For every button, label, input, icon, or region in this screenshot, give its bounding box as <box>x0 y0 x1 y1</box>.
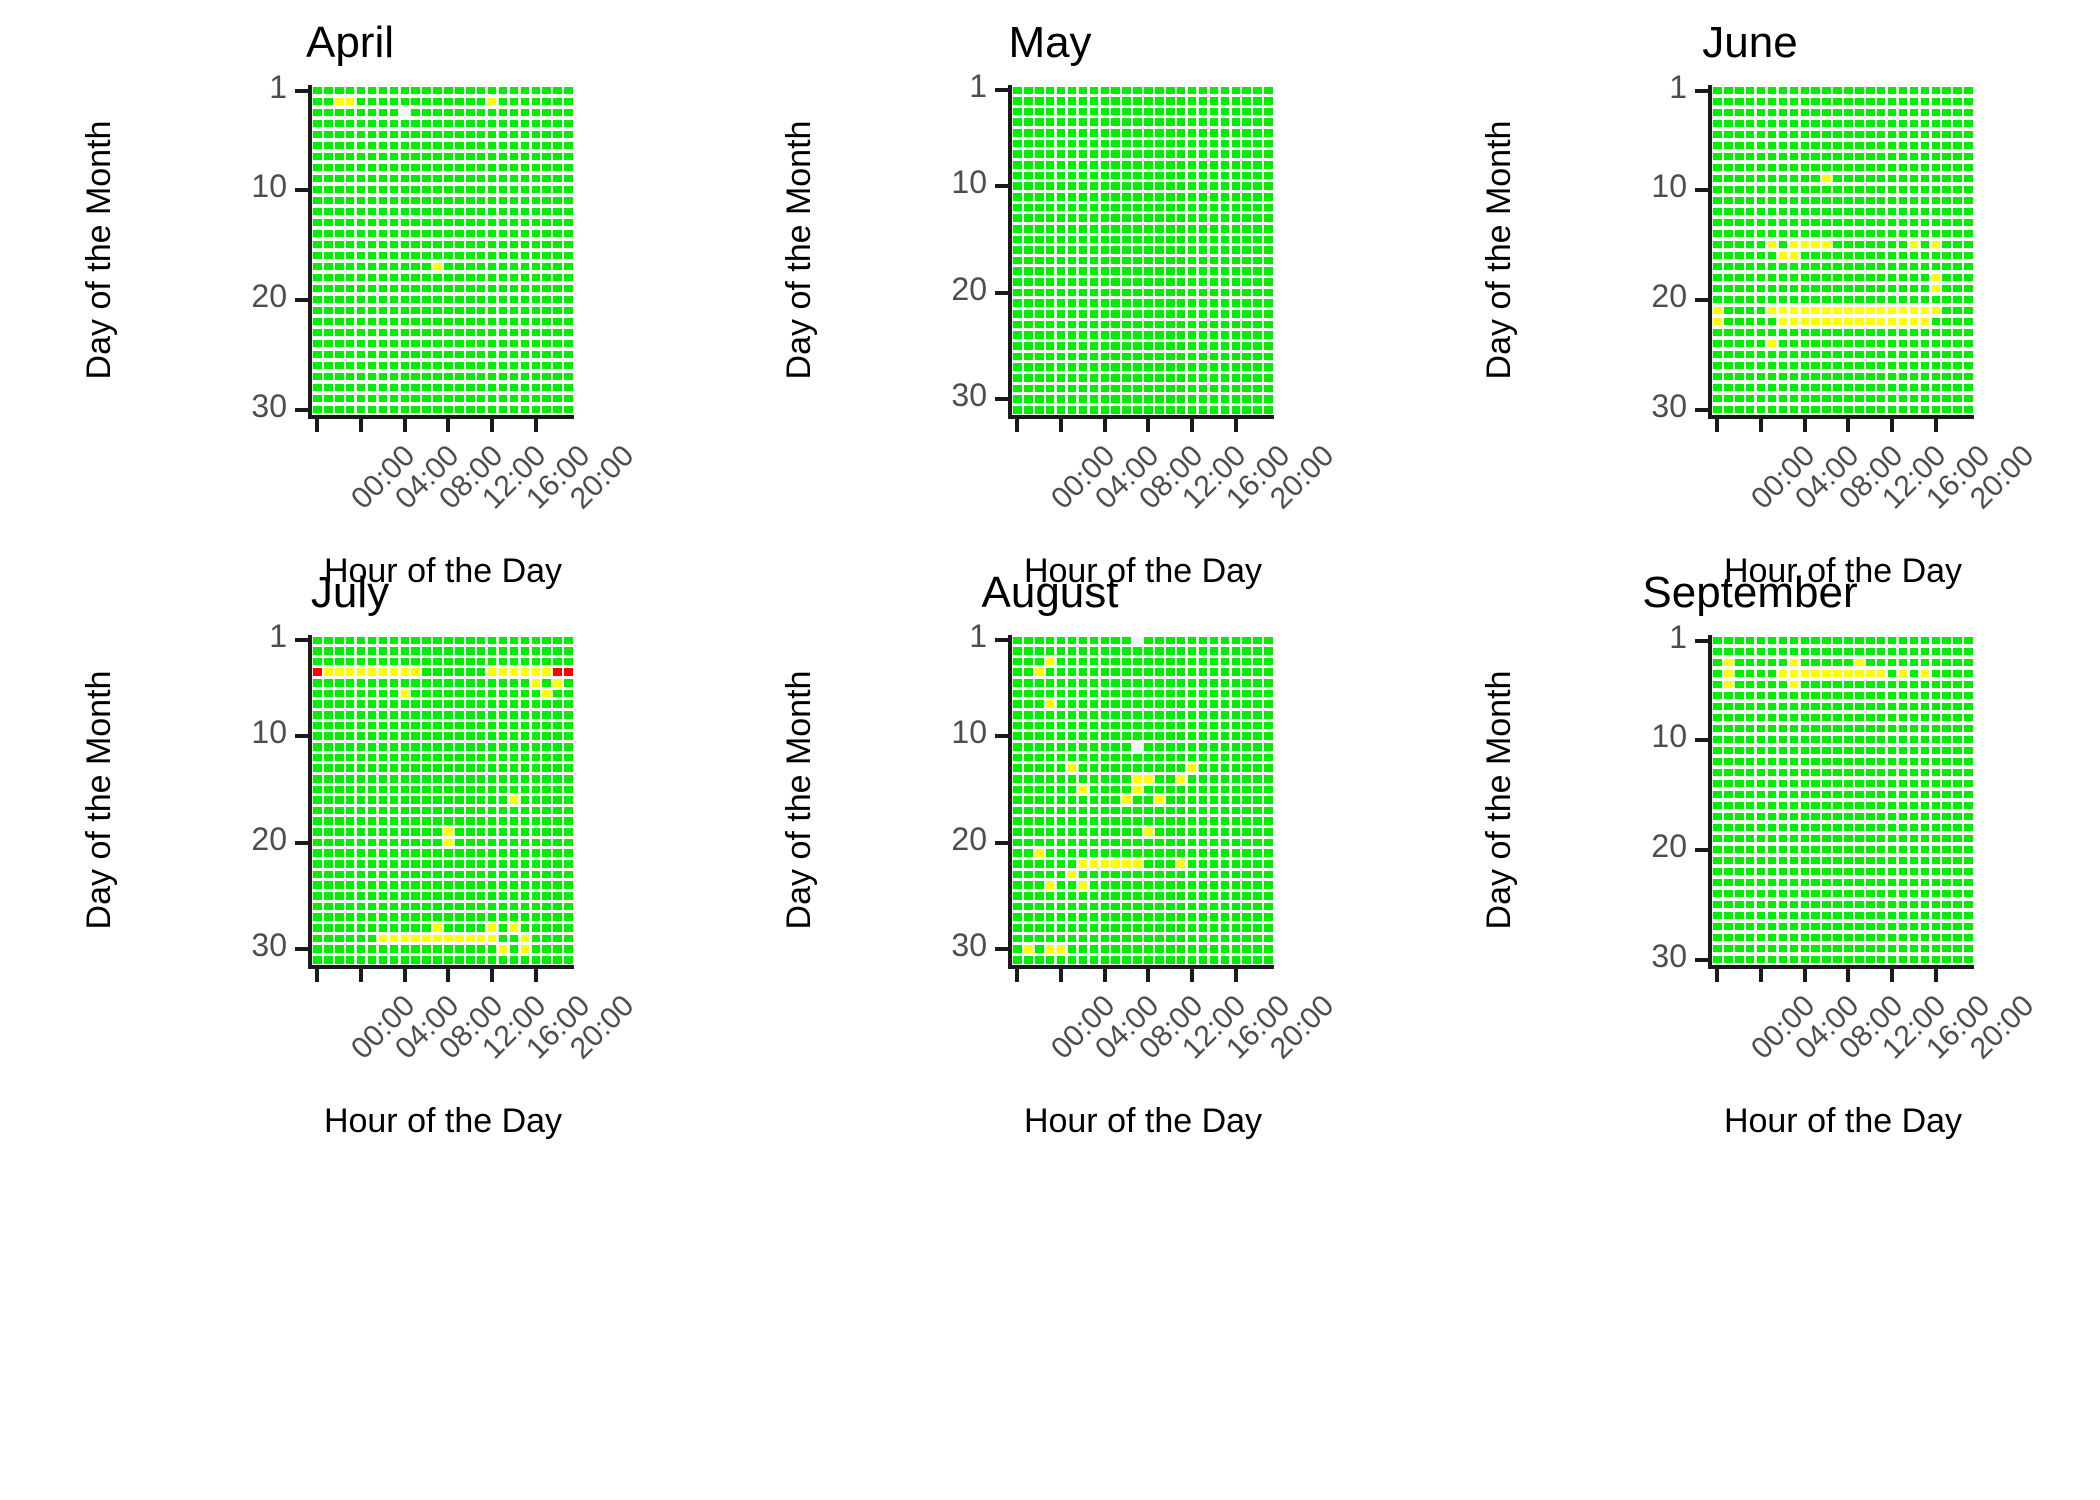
heatmap-cell <box>1876 239 1887 250</box>
heatmap-cell <box>1778 338 1789 349</box>
heatmap-cell <box>454 305 465 316</box>
heatmap-cell <box>1088 720 1099 731</box>
heatmap-cell <box>552 773 563 784</box>
heatmap-cell <box>1099 901 1110 912</box>
heatmap-cell <box>1165 667 1176 678</box>
heatmap-cell <box>530 393 541 404</box>
heatmap-cell <box>1930 844 1941 855</box>
heatmap-cell <box>1767 162 1778 173</box>
heatmap-cell <box>530 316 541 327</box>
heatmap-cell <box>1876 250 1887 261</box>
heatmap-cell <box>432 327 443 338</box>
heatmap-cell <box>334 316 345 327</box>
heatmap-cell <box>1854 294 1865 305</box>
heatmap-cell <box>1056 383 1067 394</box>
y-tick-label: 10 <box>1587 168 1687 205</box>
heatmap-cell <box>312 360 323 371</box>
heatmap-cell <box>1952 811 1963 822</box>
heatmap-cell <box>1854 701 1865 712</box>
heatmap-cell <box>1067 859 1078 870</box>
heatmap-cell <box>1898 690 1909 701</box>
heatmap-cell <box>443 699 454 710</box>
heatmap-cell <box>1712 184 1723 195</box>
heatmap-cell <box>1012 287 1023 298</box>
heatmap-cell <box>410 667 421 678</box>
heatmap-cell <box>399 371 410 382</box>
heatmap-cell <box>323 151 334 162</box>
heatmap-cell <box>1832 679 1843 690</box>
heatmap-cell <box>1843 305 1854 316</box>
heatmap-cell <box>1887 690 1898 701</box>
heatmap-cell <box>399 635 410 646</box>
heatmap-cell <box>1810 129 1821 140</box>
heatmap-cell <box>1110 699 1121 710</box>
heatmap-cell <box>509 922 520 933</box>
heatmap-cell <box>1941 272 1952 283</box>
heatmap-cell <box>1909 173 1920 184</box>
heatmap-cell <box>1132 383 1143 394</box>
heatmap-cell <box>1209 266 1220 277</box>
heatmap-cell <box>509 195 520 206</box>
heatmap-cell <box>1865 250 1876 261</box>
heatmap-cell <box>454 327 465 338</box>
heatmap-cell <box>399 107 410 118</box>
heatmap-cell <box>1132 319 1143 330</box>
heatmap-cell <box>1723 206 1734 217</box>
heatmap-cell <box>1952 393 1963 404</box>
heatmap-cell <box>1252 678 1263 689</box>
heatmap-cell <box>1088 763 1099 774</box>
heatmap-cell <box>1099 319 1110 330</box>
heatmap-cell <box>1821 767 1832 778</box>
panel-title: June <box>1400 18 2100 68</box>
heatmap-cell <box>1821 316 1832 327</box>
heatmap-cell <box>1788 811 1799 822</box>
heatmap-cell <box>1832 943 1843 954</box>
heatmap-cell <box>432 678 443 689</box>
heatmap-cell <box>552 848 563 859</box>
heatmap-cell <box>1756 140 1767 151</box>
heatmap-cell <box>1252 383 1263 394</box>
heatmap-cell <box>1810 250 1821 261</box>
heatmap-cell <box>1088 266 1099 277</box>
heatmap-cell <box>465 848 476 859</box>
heatmap-cell <box>1734 954 1745 965</box>
heatmap-cell <box>367 880 378 891</box>
heatmap-cell <box>1930 382 1941 393</box>
heatmap-cell <box>1121 394 1132 405</box>
heatmap-cell <box>1219 191 1230 202</box>
heatmap-cell <box>410 371 421 382</box>
heatmap-cell <box>1778 789 1789 800</box>
heatmap-cell <box>1023 213 1034 224</box>
heatmap-cell <box>1219 96 1230 107</box>
heatmap-cell <box>1143 773 1154 784</box>
heatmap-cell <box>1056 245 1067 256</box>
heatmap-cell <box>1209 394 1220 405</box>
heatmap-cell <box>312 305 323 316</box>
heatmap-cell <box>1263 678 1274 689</box>
heatmap-cell <box>541 96 552 107</box>
heatmap-cell <box>1745 272 1756 283</box>
heatmap-cell <box>1756 910 1767 921</box>
heatmap-cell <box>399 795 410 806</box>
heatmap-cell <box>334 162 345 173</box>
heatmap-cell <box>1941 635 1952 646</box>
heatmap-cell <box>1219 128 1230 139</box>
heatmap-cell <box>1876 327 1887 338</box>
heatmap-cell <box>388 667 399 678</box>
heatmap-cell <box>1088 351 1099 362</box>
heatmap-cell <box>1154 837 1165 848</box>
heatmap-cell <box>1778 294 1789 305</box>
heatmap-cell <box>530 933 541 944</box>
heatmap-cell <box>1810 338 1821 349</box>
heatmap-cell <box>1252 635 1263 646</box>
heatmap-cell <box>1088 191 1099 202</box>
heatmap-cell <box>1821 305 1832 316</box>
heatmap-cell <box>1209 795 1220 806</box>
heatmap-cell <box>1012 710 1023 721</box>
heatmap-cell <box>1930 206 1941 217</box>
heatmap-cell <box>378 261 389 272</box>
heatmap-cell <box>1854 118 1865 129</box>
heatmap-cell <box>1832 646 1843 657</box>
heatmap-cell <box>1263 667 1274 678</box>
heatmap-cell <box>421 869 432 880</box>
heatmap-cell <box>454 173 465 184</box>
heatmap-cell <box>530 349 541 360</box>
heatmap-cell <box>454 816 465 827</box>
heatmap-cell <box>1952 217 1963 228</box>
heatmap-cell <box>1241 816 1252 827</box>
heatmap-cell <box>1154 319 1165 330</box>
heatmap-cell <box>356 635 367 646</box>
heatmap-cell <box>454 184 465 195</box>
heatmap-cell <box>487 784 498 795</box>
heatmap-cell <box>541 360 552 371</box>
heatmap-cell <box>1056 784 1067 795</box>
heatmap-cell <box>541 272 552 283</box>
heatmap-cell <box>432 184 443 195</box>
heatmap-cell <box>1788 283 1799 294</box>
heatmap-cell <box>465 327 476 338</box>
heatmap-cell <box>312 678 323 689</box>
heatmap-cell <box>1088 340 1099 351</box>
heatmap-cell <box>1930 393 1941 404</box>
heatmap-cell <box>1876 701 1887 712</box>
heatmap-cell <box>410 228 421 239</box>
heatmap-cell <box>1110 298 1121 309</box>
heatmap-cell <box>1198 848 1209 859</box>
heatmap-cell <box>1045 922 1056 933</box>
heatmap-cell <box>399 228 410 239</box>
heatmap-cell <box>541 731 552 742</box>
heatmap-cell <box>1132 635 1143 646</box>
heatmap-cell <box>1012 720 1023 731</box>
heatmap-cell <box>1952 206 1963 217</box>
heatmap-cell <box>509 933 520 944</box>
heatmap-cell <box>399 184 410 195</box>
heatmap-cell <box>519 349 530 360</box>
heatmap-cell <box>1176 340 1187 351</box>
heatmap-cell <box>1941 646 1952 657</box>
heatmap-cell <box>1045 298 1056 309</box>
heatmap-cell <box>443 922 454 933</box>
heatmap-cell <box>1219 170 1230 181</box>
heatmap-cell <box>334 217 345 228</box>
heatmap-cell <box>1099 763 1110 774</box>
heatmap-cell <box>399 360 410 371</box>
heatmap-cell <box>1034 816 1045 827</box>
heatmap-cell <box>1821 734 1832 745</box>
heatmap-cell <box>399 859 410 870</box>
heatmap-cell <box>1854 745 1865 756</box>
heatmap-cell <box>530 162 541 173</box>
heatmap-cell <box>1734 767 1745 778</box>
heatmap-cell <box>1909 151 1920 162</box>
heatmap-cell <box>1865 877 1876 888</box>
heatmap-cell <box>1067 138 1078 149</box>
heatmap-cell <box>1088 912 1099 923</box>
heatmap-cell <box>432 635 443 646</box>
heatmap-cell <box>410 773 421 784</box>
heatmap-cell <box>1176 944 1187 955</box>
heatmap-cell <box>1230 859 1241 870</box>
heatmap-cell <box>1263 149 1274 160</box>
heatmap-cell <box>1198 773 1209 784</box>
heatmap-cell <box>1034 309 1045 320</box>
heatmap-cell <box>345 859 356 870</box>
heatmap-cell <box>1712 228 1723 239</box>
heatmap-cell <box>1219 816 1230 827</box>
heatmap-cell <box>1219 266 1230 277</box>
heatmap-cell <box>1012 117 1023 128</box>
heatmap-cell <box>378 890 389 901</box>
heatmap-cell <box>454 162 465 173</box>
heatmap-cell <box>1941 910 1952 921</box>
heatmap-cell <box>1263 944 1274 955</box>
heatmap-cell <box>487 837 498 848</box>
heatmap-cell <box>552 173 563 184</box>
heatmap-cell <box>1756 657 1767 668</box>
heatmap-cell <box>1821 844 1832 855</box>
heatmap-cell <box>454 837 465 848</box>
heatmap-cell <box>1876 85 1887 96</box>
heatmap-cell <box>498 922 509 933</box>
heatmap-cell <box>1088 330 1099 341</box>
heatmap-cell <box>1788 668 1799 679</box>
heatmap-cell <box>1778 701 1789 712</box>
heatmap-cell <box>1230 234 1241 245</box>
heatmap-cell <box>1963 283 1974 294</box>
heatmap-cell <box>1099 383 1110 394</box>
heatmap-cell <box>1034 710 1045 721</box>
heatmap-cell <box>1034 106 1045 117</box>
heatmap-cell <box>465 667 476 678</box>
heatmap-cell <box>476 404 487 415</box>
heatmap-cell <box>1252 372 1263 383</box>
heatmap-cell <box>454 195 465 206</box>
heatmap-cell <box>1963 822 1974 833</box>
heatmap-cell <box>1832 162 1843 173</box>
heatmap-cell <box>498 107 509 118</box>
heatmap-cell <box>378 710 389 721</box>
heatmap-cell <box>1263 181 1274 192</box>
heatmap-cell <box>1088 394 1099 405</box>
heatmap-cell <box>1799 679 1810 690</box>
heatmap-cell <box>1788 96 1799 107</box>
heatmap-cell <box>443 741 454 752</box>
heatmap-cell <box>1941 954 1952 965</box>
heatmap-cell <box>1734 844 1745 855</box>
heatmap-cell <box>1067 191 1078 202</box>
heatmap-cell <box>1012 372 1023 383</box>
heatmap-cell <box>1767 206 1778 217</box>
heatmap-cell <box>1821 899 1832 910</box>
heatmap-cell <box>1843 272 1854 283</box>
heatmap-cell <box>1723 349 1734 360</box>
heatmap-cell <box>1788 371 1799 382</box>
heatmap-cell <box>1843 932 1854 943</box>
heatmap-cell <box>367 195 378 206</box>
y-tick-label: 20 <box>887 821 987 858</box>
heatmap-cell <box>530 816 541 827</box>
heatmap-cell <box>1132 656 1143 667</box>
heatmap-cell <box>399 239 410 250</box>
heatmap-grid <box>312 635 574 965</box>
heatmap-cell <box>1252 688 1263 699</box>
heatmap-cell <box>1023 106 1034 117</box>
heatmap-cell <box>465 901 476 912</box>
heatmap-cell <box>1821 206 1832 217</box>
heatmap-cell <box>1165 635 1176 646</box>
heatmap-cell <box>1843 151 1854 162</box>
heatmap-cell <box>487 795 498 806</box>
heatmap-cell <box>1887 327 1898 338</box>
heatmap-cell <box>454 805 465 816</box>
heatmap-cell <box>1909 954 1920 965</box>
heatmap-cell <box>1078 106 1089 117</box>
heatmap-cell <box>1143 298 1154 309</box>
heatmap-cell <box>1843 844 1854 855</box>
heatmap-cell <box>1154 117 1165 128</box>
heatmap-cell <box>454 140 465 151</box>
heatmap-cell <box>312 710 323 721</box>
heatmap-cell <box>1056 635 1067 646</box>
heatmap-cell <box>323 404 334 415</box>
heatmap-cell <box>1132 731 1143 742</box>
y-tick-label: 30 <box>887 927 987 964</box>
heatmap-cell <box>487 393 498 404</box>
heatmap-cell <box>1712 921 1723 932</box>
heatmap-cell <box>1078 784 1089 795</box>
x-tick-mark <box>1103 969 1107 982</box>
heatmap-cell <box>454 129 465 140</box>
heatmap-cell <box>1241 117 1252 128</box>
heatmap-cell <box>1143 816 1154 827</box>
heatmap-cell <box>563 944 574 955</box>
heatmap-cell <box>1056 954 1067 965</box>
heatmap-cell <box>1767 844 1778 855</box>
heatmap-cell <box>399 869 410 880</box>
heatmap-cell <box>1854 272 1865 283</box>
heatmap-cell <box>1745 261 1756 272</box>
heatmap-cell <box>1165 202 1176 213</box>
heatmap-cell <box>1219 298 1230 309</box>
heatmap-cell <box>1778 272 1789 283</box>
heatmap-cell <box>1241 805 1252 816</box>
heatmap-cell <box>1230 720 1241 731</box>
heatmap-cell <box>465 699 476 710</box>
heatmap-cell <box>1723 668 1734 679</box>
heatmap-cell <box>1023 933 1034 944</box>
heatmap-cell <box>465 837 476 848</box>
heatmap-cell <box>356 678 367 689</box>
heatmap-cell <box>1778 360 1789 371</box>
heatmap-cell <box>509 731 520 742</box>
heatmap-cell <box>465 250 476 261</box>
heatmap-cell <box>1799 96 1810 107</box>
heatmap-cell <box>410 656 421 667</box>
heatmap-cell <box>1241 383 1252 394</box>
heatmap-cell <box>1963 239 1974 250</box>
heatmap-cell <box>1078 922 1089 933</box>
heatmap-cell <box>1219 287 1230 298</box>
heatmap-cell <box>1056 181 1067 192</box>
heatmap-cell <box>563 85 574 96</box>
heatmap-cell <box>552 338 563 349</box>
heatmap-cell <box>1241 773 1252 784</box>
heatmap-cell <box>399 646 410 657</box>
heatmap-cell <box>410 890 421 901</box>
heatmap-cell <box>1778 85 1789 96</box>
heatmap-cell <box>530 688 541 699</box>
heatmap-cell <box>1778 712 1789 723</box>
heatmap-cell <box>1799 371 1810 382</box>
heatmap-cell <box>399 195 410 206</box>
heatmap-cell <box>1919 756 1930 767</box>
heatmap-cell <box>1165 372 1176 383</box>
heatmap-cell <box>519 360 530 371</box>
heatmap-cell <box>1110 922 1121 933</box>
heatmap-cell <box>1952 899 1963 910</box>
heatmap-cell <box>465 890 476 901</box>
heatmap-cell <box>1919 316 1930 327</box>
heatmap-cell <box>498 217 509 228</box>
heatmap-cell <box>1263 954 1274 965</box>
heatmap-cell <box>334 360 345 371</box>
heatmap-cell <box>1963 151 1974 162</box>
heatmap-cell <box>1865 756 1876 767</box>
heatmap-cell <box>323 393 334 404</box>
heatmap-cell <box>509 752 520 763</box>
heatmap-cell <box>1876 679 1887 690</box>
heatmap-cell <box>1154 880 1165 891</box>
heatmap-cell <box>1843 712 1854 723</box>
heatmap-cell <box>552 349 563 360</box>
heatmap-cell <box>476 763 487 774</box>
heatmap-cell <box>1252 859 1263 870</box>
heatmap-cell <box>1209 922 1220 933</box>
heatmap-cell <box>1121 827 1132 838</box>
heatmap-cell <box>312 880 323 891</box>
heatmap-cell <box>541 129 552 140</box>
heatmap-cell <box>432 667 443 678</box>
heatmap-cell <box>1876 646 1887 657</box>
heatmap-cell <box>1745 151 1756 162</box>
heatmap-cell <box>519 162 530 173</box>
